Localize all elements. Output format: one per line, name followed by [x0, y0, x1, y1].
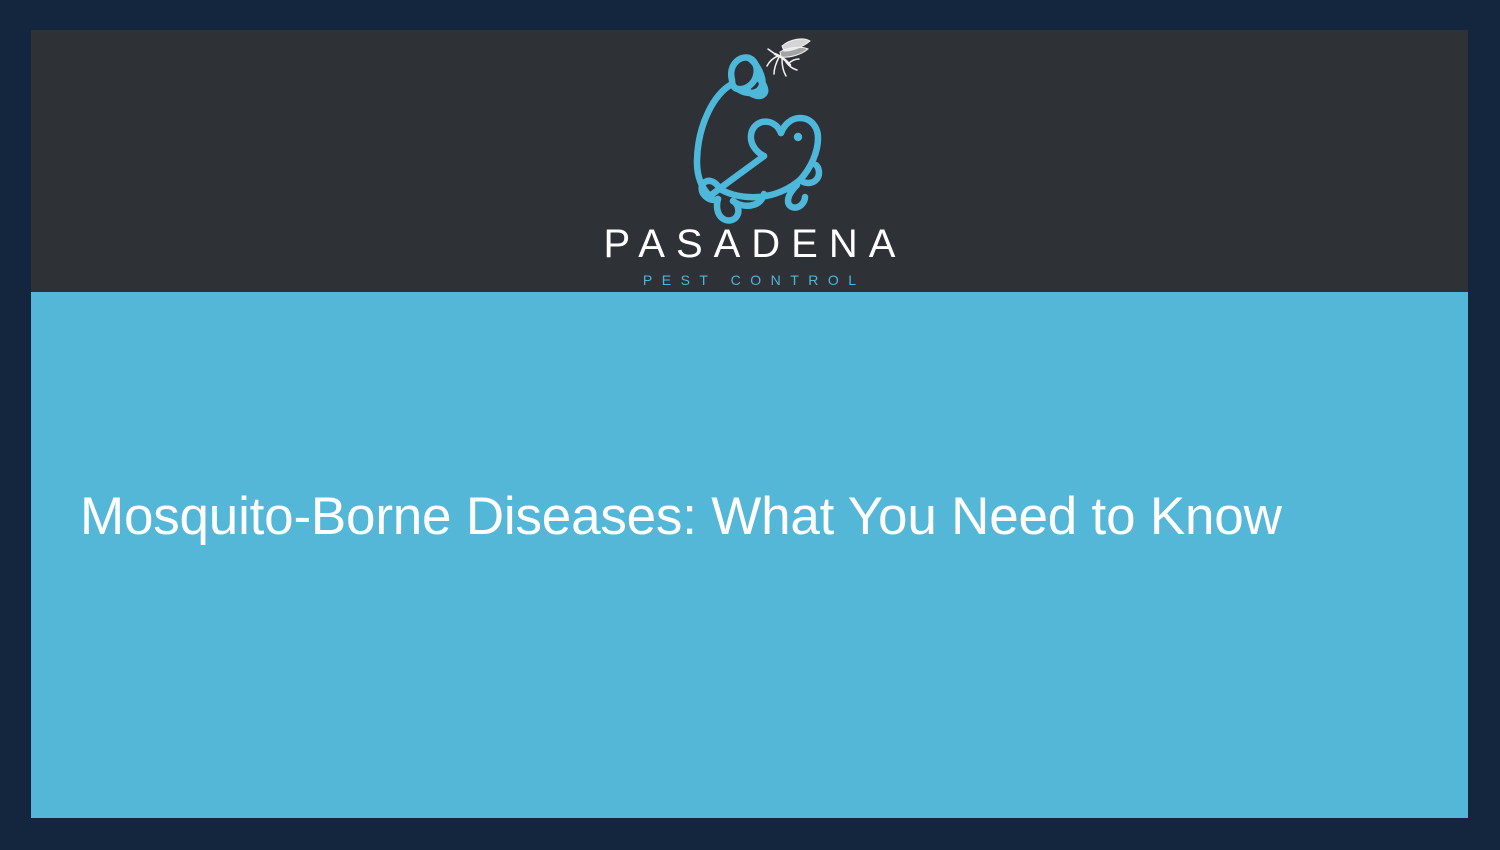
- brand-name: PASADENA: [593, 224, 907, 264]
- brand-tagline: PEST CONTROL: [633, 272, 865, 288]
- header-band: PASADENA PEST CONTROL: [31, 30, 1468, 292]
- content-panel: Mosquito-Borne Diseases: What You Need t…: [31, 292, 1468, 818]
- mouse-and-mosquito-logo-icon: [670, 32, 830, 228]
- mosquito-icon: [767, 39, 810, 76]
- brand-lockup: PASADENA PEST CONTROL: [31, 30, 1468, 292]
- logo-eye-dot: [793, 133, 801, 141]
- page-title: Mosquito-Borne Diseases: What You Need t…: [80, 486, 1440, 548]
- slide-canvas: PASADENA PEST CONTROL Mosquito-Borne Dis…: [0, 0, 1500, 850]
